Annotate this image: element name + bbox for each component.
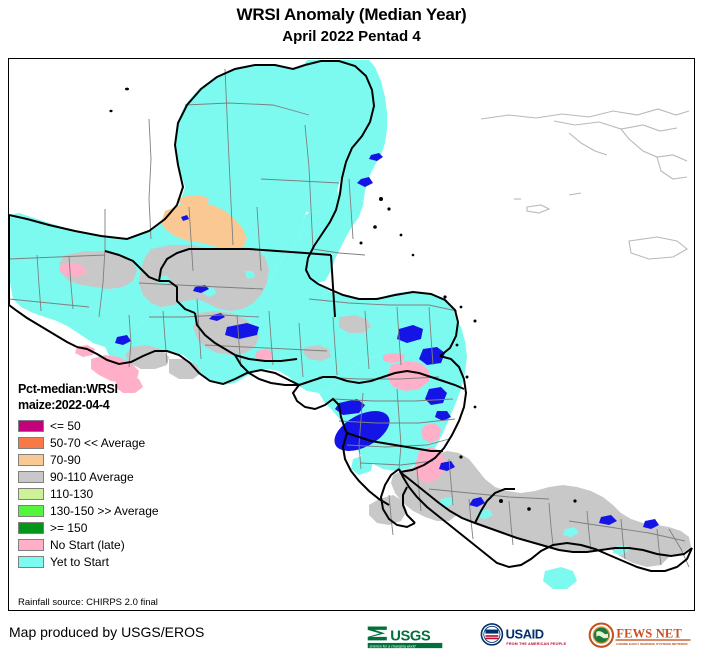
legend-label: 110-130 [50, 487, 93, 501]
legend-swatch [18, 556, 44, 568]
page-subtitle: April 2022 Pentad 4 [0, 27, 703, 47]
svg-text:FEWS NET: FEWS NET [616, 627, 682, 641]
legend-item: 50-70 << Average [18, 434, 218, 451]
legend-label: 70-90 [50, 453, 81, 467]
legend-item: 70-90 [18, 451, 218, 468]
page-title: WRSI Anomaly (Median Year) [0, 4, 703, 26]
legend-item: 90-110 Average [18, 468, 218, 485]
legend-item: 110-130 [18, 485, 218, 502]
footer: Map produced by USGS/EROS USGS science f… [0, 611, 703, 662]
svg-text:science for a changing world: science for a changing world [369, 644, 416, 648]
usgs-logo[interactable]: USGS science for a changing world [366, 621, 470, 651]
legend-swatch [18, 437, 44, 449]
legend-swatch [18, 505, 44, 517]
svg-text:USGS: USGS [390, 628, 431, 644]
legend-item-list: <= 5050-70 << Average70-9090-110 Average… [18, 417, 218, 570]
map-credit: Map produced by USGS/EROS [9, 624, 204, 640]
legend-title-line2: maize:2022-04-4 [18, 397, 218, 413]
rainfall-source-note: Rainfall source: CHIRPS 2.0 final [18, 597, 158, 608]
legend-swatch [18, 420, 44, 432]
legend-label: <= 50 [50, 419, 81, 433]
legend-label: 50-70 << Average [50, 436, 145, 450]
legend-item: No Start (late) [18, 536, 218, 553]
map-frame[interactable]: Pct-median:WRSI maize:2022-04-4 <= 5050-… [8, 58, 695, 611]
legend-swatch [18, 488, 44, 500]
svg-text:USAID: USAID [506, 626, 544, 641]
logo-strip: USGS science for a changing world USAID … [366, 621, 693, 651]
legend-item: >= 150 [18, 519, 218, 536]
legend-swatch [18, 471, 44, 483]
legend-label: No Start (late) [50, 538, 125, 552]
legend-label: 90-110 Average [50, 470, 134, 484]
legend-title-line1: Pct-median:WRSI [18, 381, 218, 397]
legend-label: 130-150 >> Average [50, 504, 159, 518]
usaid-logo[interactable]: USAID FROM THE AMERICAN PEOPLE [479, 621, 579, 651]
legend-swatch [18, 522, 44, 534]
fewsnet-logo[interactable]: FEWS NET FAMINE EARLY WARNING SYSTEMS NE… [588, 621, 693, 651]
svg-text:FAMINE EARLY WARNING SYSTEMS N: FAMINE EARLY WARNING SYSTEMS NETWORK [616, 642, 688, 646]
svg-text:FROM THE AMERICAN PEOPLE: FROM THE AMERICAN PEOPLE [506, 642, 566, 646]
title-block: WRSI Anomaly (Median Year) April 2022 Pe… [0, 0, 703, 47]
legend-swatch [18, 454, 44, 466]
legend-item: <= 50 [18, 417, 218, 434]
map-legend: Pct-median:WRSI maize:2022-04-4 <= 5050-… [18, 381, 218, 570]
legend-label: >= 150 [50, 521, 87, 535]
legend-item: 130-150 >> Average [18, 502, 218, 519]
legend-swatch [18, 539, 44, 551]
legend-item: Yet to Start [18, 553, 218, 570]
legend-label: Yet to Start [50, 555, 109, 569]
